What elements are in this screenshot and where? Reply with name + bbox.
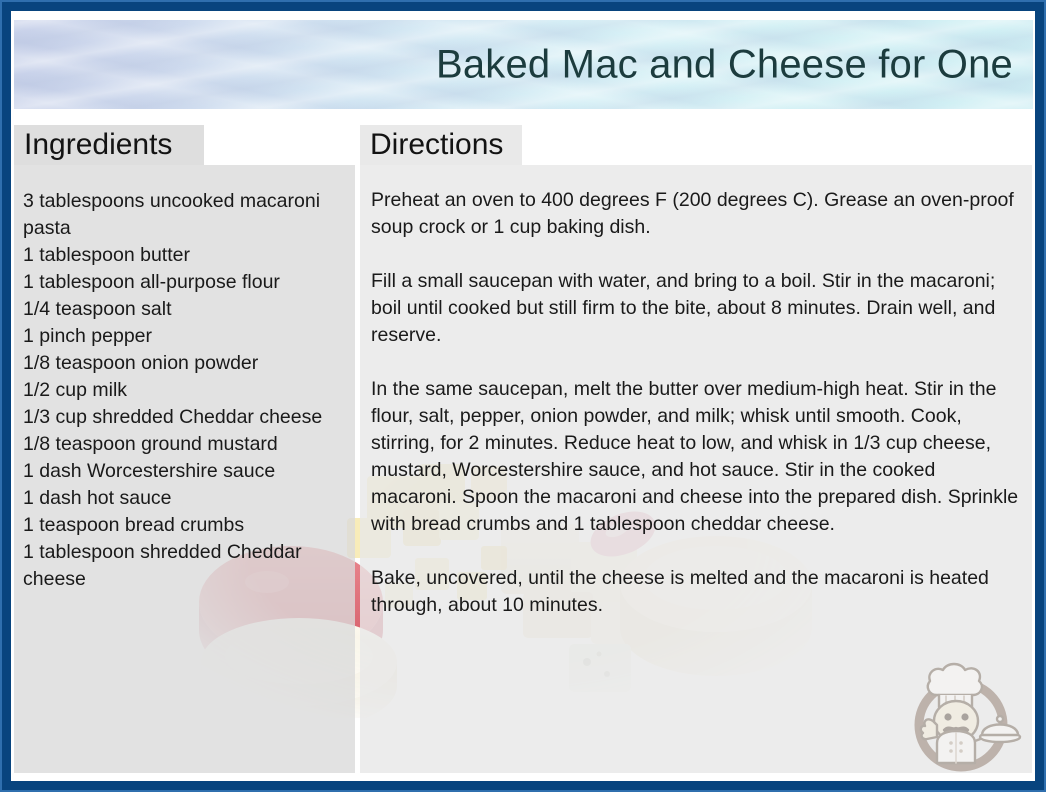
list-item: 1 teaspoon bread crumbs bbox=[23, 512, 349, 539]
directions-list: Preheat an oven to 400 degrees F (200 de… bbox=[371, 187, 1020, 619]
list-item: 1 tablespoon shredded Cheddar cheese bbox=[23, 539, 349, 593]
directions-heading-block: Directions bbox=[360, 125, 522, 165]
list-item: 1/4 teaspoon salt bbox=[23, 296, 349, 323]
title-banner: Baked Mac and Cheese for One bbox=[14, 20, 1033, 109]
list-item: 1/8 teaspoon ground mustard bbox=[23, 431, 349, 458]
list-item: 1 pinch pepper bbox=[23, 323, 349, 350]
slide-canvas: Baked Mac and Cheese for One bbox=[11, 11, 1035, 781]
ingredients-heading-block: Ingredients bbox=[14, 125, 204, 165]
directions-heading: Directions bbox=[370, 128, 503, 162]
slide-frame: Baked Mac and Cheese for One bbox=[0, 0, 1046, 792]
list-item: 1/8 teaspoon onion powder bbox=[23, 350, 349, 377]
direction-step: Preheat an oven to 400 degrees F (200 de… bbox=[371, 187, 1020, 241]
direction-step: Fill a small saucepan with water, and br… bbox=[371, 268, 1020, 349]
list-item: 1 tablespoon butter bbox=[23, 242, 349, 269]
ingredients-list: 3 tablespoons uncooked macaroni pasta 1 … bbox=[23, 188, 349, 593]
list-item: 1 tablespoon all-purpose flour bbox=[23, 269, 349, 296]
list-item: 1 dash Worcestershire sauce bbox=[23, 458, 349, 485]
ingredients-body: 3 tablespoons uncooked macaroni pasta 1 … bbox=[14, 165, 355, 773]
list-item: 1 dash hot sauce bbox=[23, 485, 349, 512]
ingredients-panel: Ingredients 3 tablespoons uncooked macar… bbox=[14, 125, 355, 773]
list-item: 3 tablespoons uncooked macaroni pasta bbox=[23, 188, 349, 242]
ingredients-heading: Ingredients bbox=[24, 128, 172, 162]
page-title: Baked Mac and Cheese for One bbox=[436, 42, 1013, 87]
list-item: 1/3 cup shredded Cheddar cheese bbox=[23, 404, 349, 431]
list-item: 1/2 cup milk bbox=[23, 377, 349, 404]
direction-step: Bake, uncovered, until the cheese is mel… bbox=[371, 565, 1020, 619]
chef-mascot-logo bbox=[899, 651, 1027, 777]
direction-step: In the same saucepan, melt the butter ov… bbox=[371, 376, 1020, 538]
